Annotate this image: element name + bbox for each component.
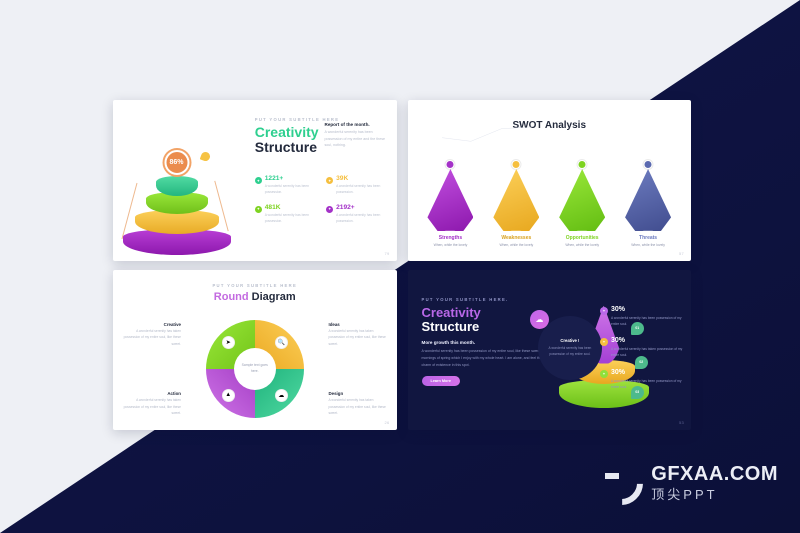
watermark-title: GFXAA.COM [651, 464, 778, 485]
stat-value: 30% [611, 369, 684, 376]
stat-desc: A wonderful serenity has been possession… [336, 213, 391, 225]
send-icon[interactable]: ➤ [222, 336, 235, 349]
slide4-eyebrow: Put your subtitle here. [422, 297, 547, 302]
label-desc: A wonderful serenity has taken possessio… [119, 328, 181, 347]
stat-desc: A wonderful serenity has taken possessio… [611, 346, 684, 359]
swot-label: Strengths [420, 235, 480, 241]
page-number: 53 [679, 420, 684, 425]
stat-desc: A wonderful serenity has been possession… [336, 184, 391, 196]
stat-value: 2192+ [336, 205, 391, 212]
slide-deck: 86% Put your subtitle here Creativity St… [113, 100, 691, 430]
swot-cone: ▤ [625, 169, 671, 231]
slide-swot-analysis[interactable]: SWOT Analysis ♕ Strengths When, while th… [408, 100, 692, 261]
creative-callout-bubble: ☁ Creative ! A wonderful serenity has be… [538, 316, 602, 380]
slide3-title-accent: Round [214, 291, 249, 303]
g-logo-icon [599, 461, 643, 505]
slide4-body: A wonderful serenity has been possession… [422, 348, 547, 369]
stat-item[interactable]: ✦ 39K A wonderful serenity has been poss… [326, 176, 391, 196]
slide4-title-accent: Creativity [422, 306, 547, 320]
page-number: 57 [679, 251, 684, 256]
stat-item[interactable]: ✦ 2192+ A wonderful serenity has been po… [326, 205, 391, 225]
slide-round-diagram[interactable]: Put your subtitle here Round Diagram Sam… [113, 270, 397, 431]
swot-cone: ▣ [493, 169, 539, 231]
slide-creativity-structure-light[interactable]: 86% Put your subtitle here Creativity St… [113, 100, 397, 261]
slide-creativity-structure-dark[interactable]: Put your subtitle here. Creativity Struc… [408, 270, 692, 431]
stat-item[interactable]: ✦ 30% A wonderful serenity has been poss… [600, 306, 684, 328]
swot-items: ♕ Strengths When, while the lovely ▣ Wea… [418, 151, 682, 247]
learn-more-button[interactable]: Learn More [422, 376, 460, 386]
label-desc: A wonderful serenity has taken possessio… [119, 397, 181, 416]
swot-desc: When, while the lovely [552, 243, 612, 247]
swot-item-threats[interactable]: ▤ Threats When, while the lovely [618, 169, 678, 247]
bubble-body: A wonderful serenity has been possession… [546, 345, 594, 357]
swot-desc: When, while the lovely [420, 243, 480, 247]
star-icon: ✦ [255, 177, 262, 184]
star-icon: ✦ [600, 338, 608, 346]
watermark-subtitle: 顶尖PPT [651, 488, 778, 502]
slide4-stats: ✦ 30% A wonderful serenity has been poss… [600, 306, 684, 401]
stat-value: 1221+ [265, 176, 320, 183]
stat-desc: A wonderful serenity has been possession… [611, 315, 684, 328]
slide4-title-plain: Structure [422, 320, 547, 334]
stat-value: 30% [611, 337, 684, 344]
rocket-icon[interactable]: ▲ [222, 389, 235, 402]
stat-item[interactable]: ✦ 481K A wonderful serenity has been pos… [255, 205, 320, 225]
swot-desc: When, while the lovely [486, 243, 546, 247]
slide4-text-column: Put your subtitle here. Creativity Struc… [422, 297, 547, 388]
watermark: GFXAA.COM 顶尖PPT [599, 461, 778, 505]
report-body: A wonderful serenity has been possession… [325, 129, 387, 149]
swot-cone: 🛒 [559, 169, 605, 231]
star-icon: ✦ [600, 307, 608, 315]
label-title: Ideas [329, 322, 391, 327]
label-ideas: Ideas A wonderful serenity has taken pos… [329, 322, 391, 347]
node-dot-icon [512, 160, 521, 169]
swot-item-strengths[interactable]: ♕ Strengths When, while the lovely [420, 169, 480, 247]
star-icon: ✦ [326, 206, 333, 213]
cone-illustration-1: 86% [119, 150, 234, 255]
wheel-center-label: Sample text goes here. [234, 348, 276, 390]
swot-label: Threats [618, 235, 678, 241]
page-number: 26 [384, 420, 389, 425]
swot-cone: ♕ [427, 169, 473, 231]
stat-value: 481K [265, 205, 320, 212]
label-design: Design A wonderful serenity has taken po… [329, 391, 391, 416]
label-title: Design [329, 391, 391, 396]
slide3-title: Round Diagram [113, 291, 397, 303]
stat-item[interactable]: ✦ 30% A wonderful serenity has taken pos… [600, 337, 684, 359]
slide1-stats-grid: ✦ 1221+ A wonderful serenity has been po… [255, 176, 392, 225]
label-desc: A wonderful serenity has taken possessio… [329, 397, 391, 416]
swot-connector-line [434, 126, 542, 144]
cloud-icon[interactable]: ☁ [275, 389, 288, 402]
completion-badge: 86% [164, 150, 189, 175]
node-dot-icon [578, 160, 587, 169]
search-icon[interactable]: 🔍 [275, 336, 288, 349]
stat-item[interactable]: ✦ 30% A wonderful serenity has been poss… [600, 369, 684, 391]
swot-desc: When, while the lovely [618, 243, 678, 247]
cloud-icon: ☁ [530, 310, 549, 329]
label-title: Creative [119, 322, 181, 327]
page-number: 79 [384, 251, 389, 256]
swot-item-opportunities[interactable]: 🛒 Opportunities When, while the lovely [552, 169, 612, 247]
cone-layer-1 [156, 176, 198, 196]
swot-label: Weaknesses [486, 235, 546, 241]
bubble-title: Creative ! [560, 338, 579, 343]
slide3-eyebrow: Put your subtitle here [113, 283, 397, 288]
watermark-text: GFXAA.COM 顶尖PPT [651, 464, 778, 502]
slide1-report-block: Report of the month. A wonderful serenit… [325, 122, 391, 149]
stat-value: 30% [611, 306, 684, 313]
stat-desc: A wonderful serenity has been possession… [265, 213, 320, 225]
stat-desc: A wonderful serenity has been possession… [611, 378, 684, 391]
watermark-logo [599, 461, 643, 505]
stat-desc: A wonderful serenity has been possession… [265, 184, 320, 196]
label-title: Action [119, 391, 181, 396]
star-icon: ✦ [326, 177, 333, 184]
star-icon: ✦ [255, 206, 262, 213]
label-desc: A wonderful serenity has taken possessio… [329, 328, 391, 347]
node-dot-icon [644, 160, 653, 169]
stat-value: 39K [336, 176, 391, 183]
swot-label: Opportunities [552, 235, 612, 241]
node-dot-icon [446, 160, 455, 169]
stat-item[interactable]: ✦ 1221+ A wonderful serenity has been po… [255, 176, 320, 196]
slide3-title-plain: Diagram [252, 291, 296, 303]
star-icon: ✦ [600, 370, 608, 378]
round-diagram-wheel: Sample text goes here. ➤ 🔍 ☁ ▲ [206, 320, 304, 418]
label-action: Action A wonderful serenity has taken po… [119, 391, 181, 416]
slide4-subheading: More growth this month. [422, 340, 547, 345]
swot-item-weaknesses[interactable]: ▣ Weaknesses When, while the lovely [486, 169, 546, 247]
g-logo-bar [605, 473, 619, 479]
report-heading: Report of the month. [325, 122, 391, 127]
label-creative: Creative A wonderful serenity has taken … [119, 322, 181, 347]
spark-icon [200, 150, 212, 162]
